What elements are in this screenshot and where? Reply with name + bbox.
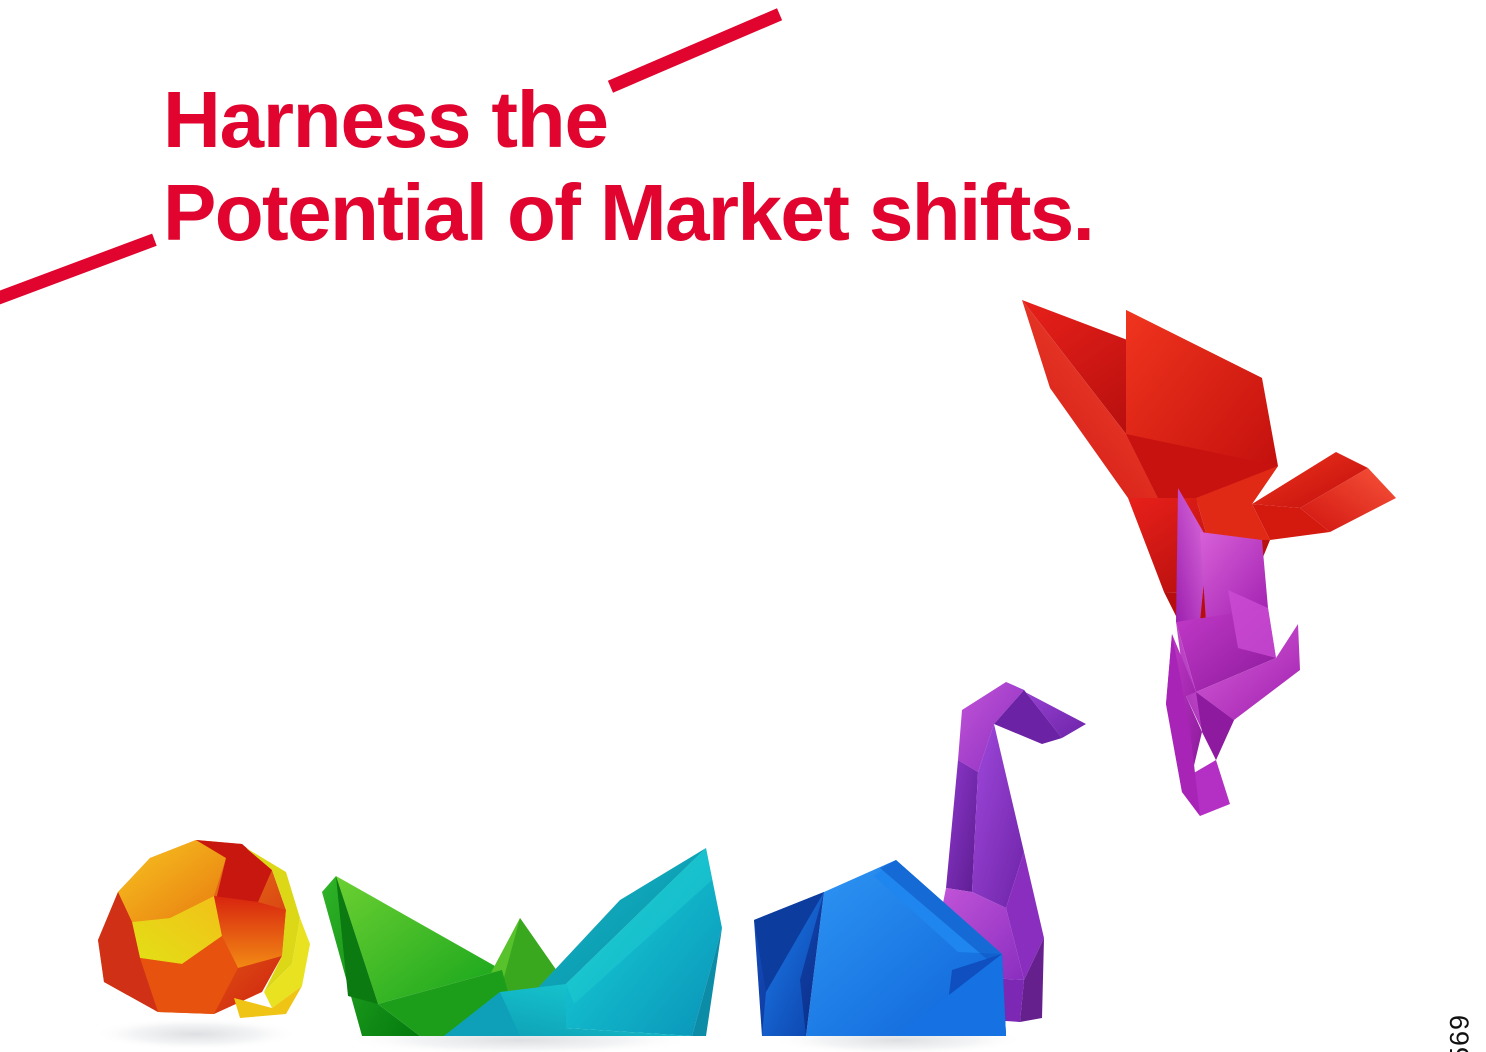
origami-flying-bird-figure <box>1022 300 1396 816</box>
marketing-slide: Harness the Potential of Market shifts. … <box>0 0 1486 1052</box>
crumpled-paper-ball-figure <box>98 840 310 1018</box>
headline-line-2: Potential of Market shifts. <box>163 166 1093 259</box>
origami-swan-figure <box>754 682 1086 1036</box>
origami-illustration <box>0 292 1486 1052</box>
origami-paper-boat-figure <box>322 848 722 1036</box>
headline-line-1: Harness the <box>163 73 1093 166</box>
page-title: Harness the Potential of Market shifts. <box>163 73 1093 259</box>
